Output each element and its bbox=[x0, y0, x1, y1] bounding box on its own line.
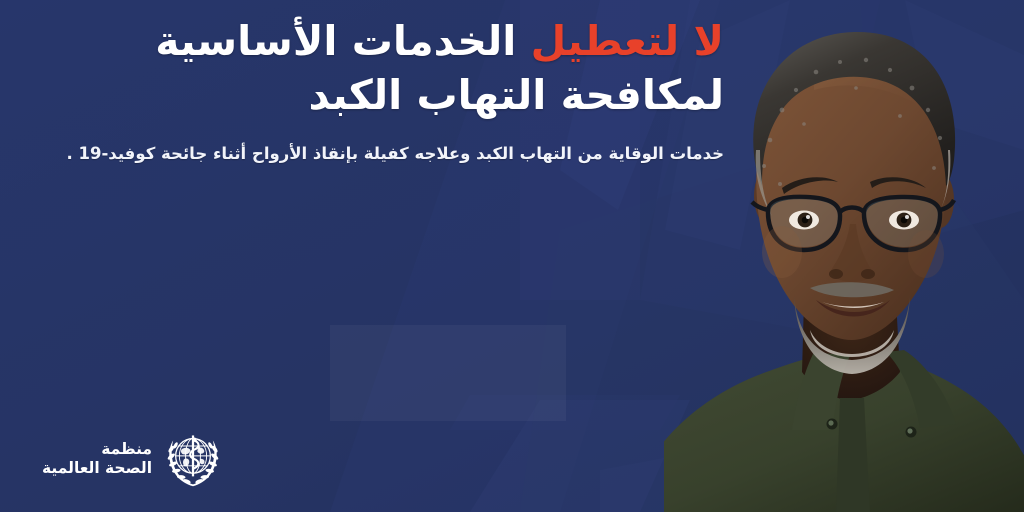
decorative-rectangle bbox=[330, 325, 566, 421]
who-emblem-icon bbox=[162, 428, 224, 490]
who-logo[interactable]: منظمة الصحة العالمية bbox=[42, 428, 224, 490]
headline-line-1-rest: الخدمات الأساسية bbox=[155, 17, 530, 65]
campaign-banner: لا لتعطيل الخدمات الأساسية لمكافحة التها… bbox=[0, 0, 1024, 512]
subtitle-text: خدمات الوقاية من التهاب الكبد وعلاجه كفي… bbox=[34, 142, 724, 166]
headline-block: لا لتعطيل الخدمات الأساسية لمكافحة التها… bbox=[34, 14, 724, 166]
who-wordmark-line-2: الصحة العالمية bbox=[42, 459, 152, 478]
headline-line-1: لا لتعطيل الخدمات الأساسية bbox=[34, 14, 724, 68]
headline-accent-text: لا لتعطيل bbox=[531, 17, 724, 65]
who-wordmark-line-1: منظمة bbox=[42, 440, 152, 459]
headline-line-2: لمكافحة التهاب الكبد bbox=[34, 70, 724, 120]
who-wordmark: منظمة الصحة العالمية bbox=[42, 440, 152, 478]
